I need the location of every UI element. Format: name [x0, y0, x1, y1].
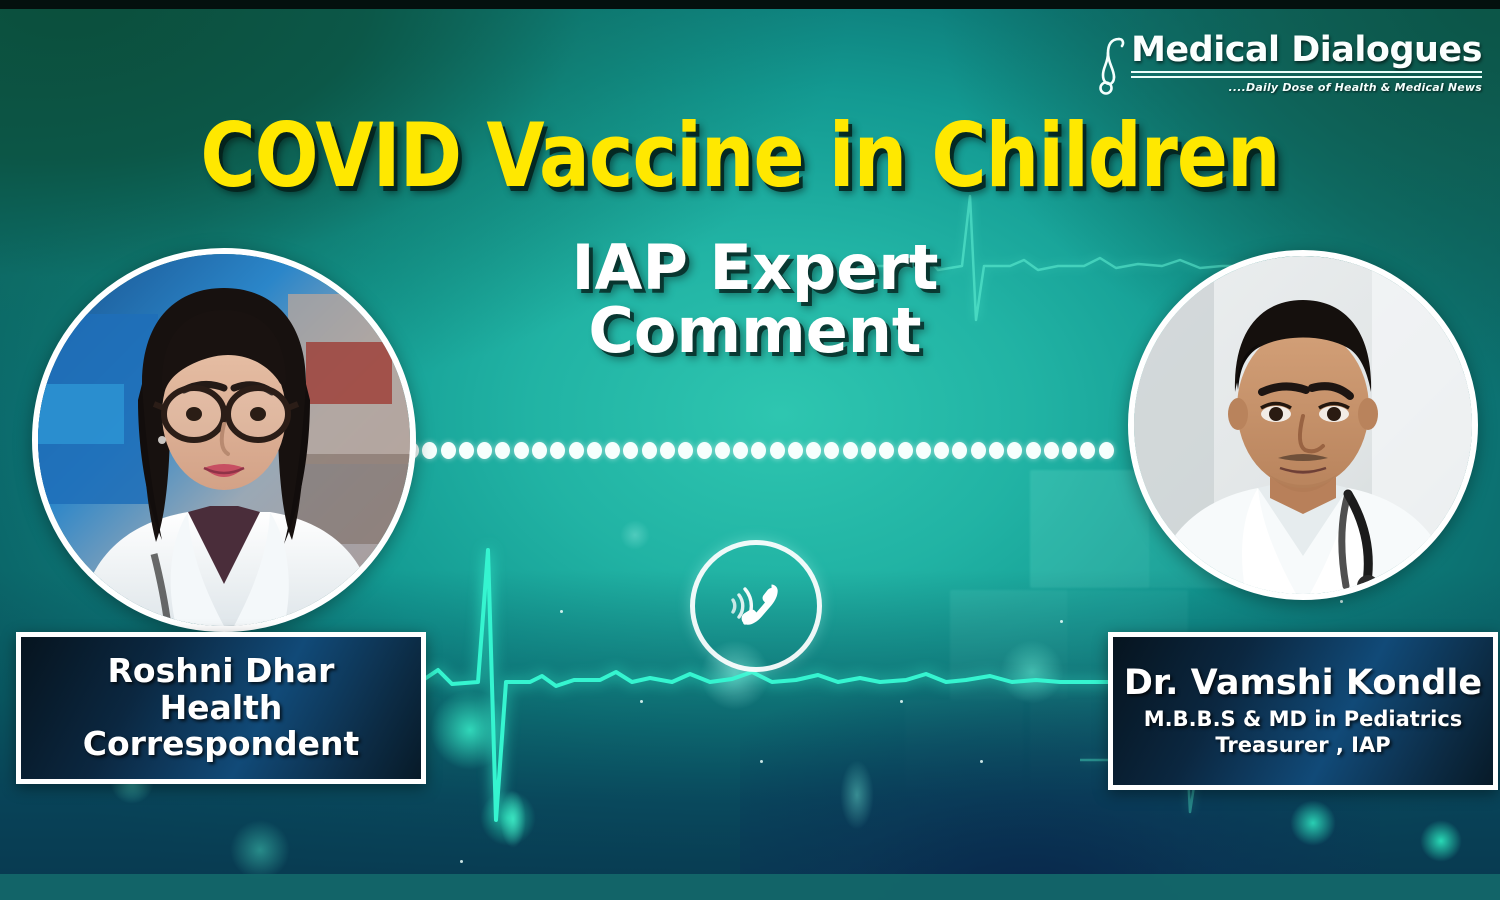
dotted-divider — [404, 441, 1114, 459]
brand-logo[interactable]: Medical Dialogues ....Daily Dose of Heal… — [1095, 33, 1482, 97]
divider-dot — [806, 442, 821, 459]
subtitle-line-2: Comment — [430, 299, 1080, 362]
divider-dot — [898, 442, 913, 459]
subtitle-line-1: IAP Expert — [571, 231, 938, 304]
divider-dot — [1099, 442, 1114, 459]
divider-dot — [733, 442, 748, 459]
divider-dot — [623, 442, 638, 459]
brand-logo-tagline: ....Daily Dose of Health & Medical News — [1131, 81, 1482, 94]
divider-dot — [1007, 442, 1022, 459]
top-letterbox-strip — [0, 0, 1500, 9]
nameplate-left-role-line-2: Correspondent — [83, 726, 360, 763]
divider-dot — [861, 442, 876, 459]
divider-dot — [697, 442, 712, 459]
divider-dot — [477, 442, 492, 459]
divider-dot — [660, 442, 675, 459]
nameplate-roshni-dhar: Roshni Dhar Health Correspondent — [16, 632, 426, 784]
page-title: COVID Vaccine in Children — [37, 112, 1443, 200]
divider-dot — [989, 442, 1004, 459]
divider-dot — [532, 442, 547, 459]
divider-dot — [569, 442, 584, 459]
page-subtitle: IAP Expert Comment — [430, 236, 1080, 362]
avatar-vamshi-kondle — [1128, 250, 1478, 600]
divider-dot — [1026, 442, 1041, 459]
divider-dot — [824, 442, 839, 459]
divider-dot — [916, 442, 931, 459]
nameplate-right-title: Treasurer , IAP — [1215, 733, 1390, 758]
divider-dot — [1080, 442, 1095, 459]
nameplate-left-role-line-1: Health — [160, 690, 283, 727]
divider-dot — [715, 442, 730, 459]
nameplate-vamshi-kondle: Dr. Vamshi Kondle M.B.B.S & MD in Pediat… — [1108, 632, 1498, 790]
divider-dot — [952, 442, 967, 459]
nameplate-left-name: Roshni Dhar — [108, 653, 335, 690]
call-badge — [690, 540, 822, 672]
divider-dot — [971, 442, 986, 459]
divider-dot — [550, 442, 565, 459]
brand-logo-text: Medical Dialogues — [1131, 33, 1482, 68]
divider-dot — [751, 442, 766, 459]
divider-dot — [788, 442, 803, 459]
avatar-vamshi-kondle-image — [1134, 256, 1472, 594]
divider-dot — [843, 442, 858, 459]
divider-dot — [1044, 442, 1059, 459]
divider-dot — [642, 442, 657, 459]
brand-logo-rules — [1131, 71, 1482, 78]
divider-dot — [678, 442, 693, 459]
nameplate-right-name: Dr. Vamshi Kondle — [1124, 664, 1482, 703]
bottom-letterbox-strip — [0, 874, 1500, 900]
divider-dot — [459, 442, 474, 459]
divider-dot — [422, 442, 437, 459]
divider-dot — [441, 442, 456, 459]
avatar-roshni-dhar — [32, 248, 416, 632]
ringing-phone-icon — [719, 569, 793, 643]
divider-dot — [587, 442, 602, 459]
avatar-roshni-dhar-image — [38, 254, 410, 626]
divider-dot — [879, 442, 894, 459]
divider-dot — [495, 442, 510, 459]
divider-dot — [770, 442, 785, 459]
stethoscope-icon — [1095, 35, 1129, 97]
divider-dot — [514, 442, 529, 459]
nameplate-right-credentials: M.B.B.S & MD in Pediatrics — [1144, 707, 1463, 732]
divider-dot — [934, 442, 949, 459]
divider-dot — [605, 442, 620, 459]
video-thumbnail-canvas: COVID Vaccine in Children IAP Expert Com… — [0, 0, 1500, 900]
divider-dot — [1062, 442, 1077, 459]
